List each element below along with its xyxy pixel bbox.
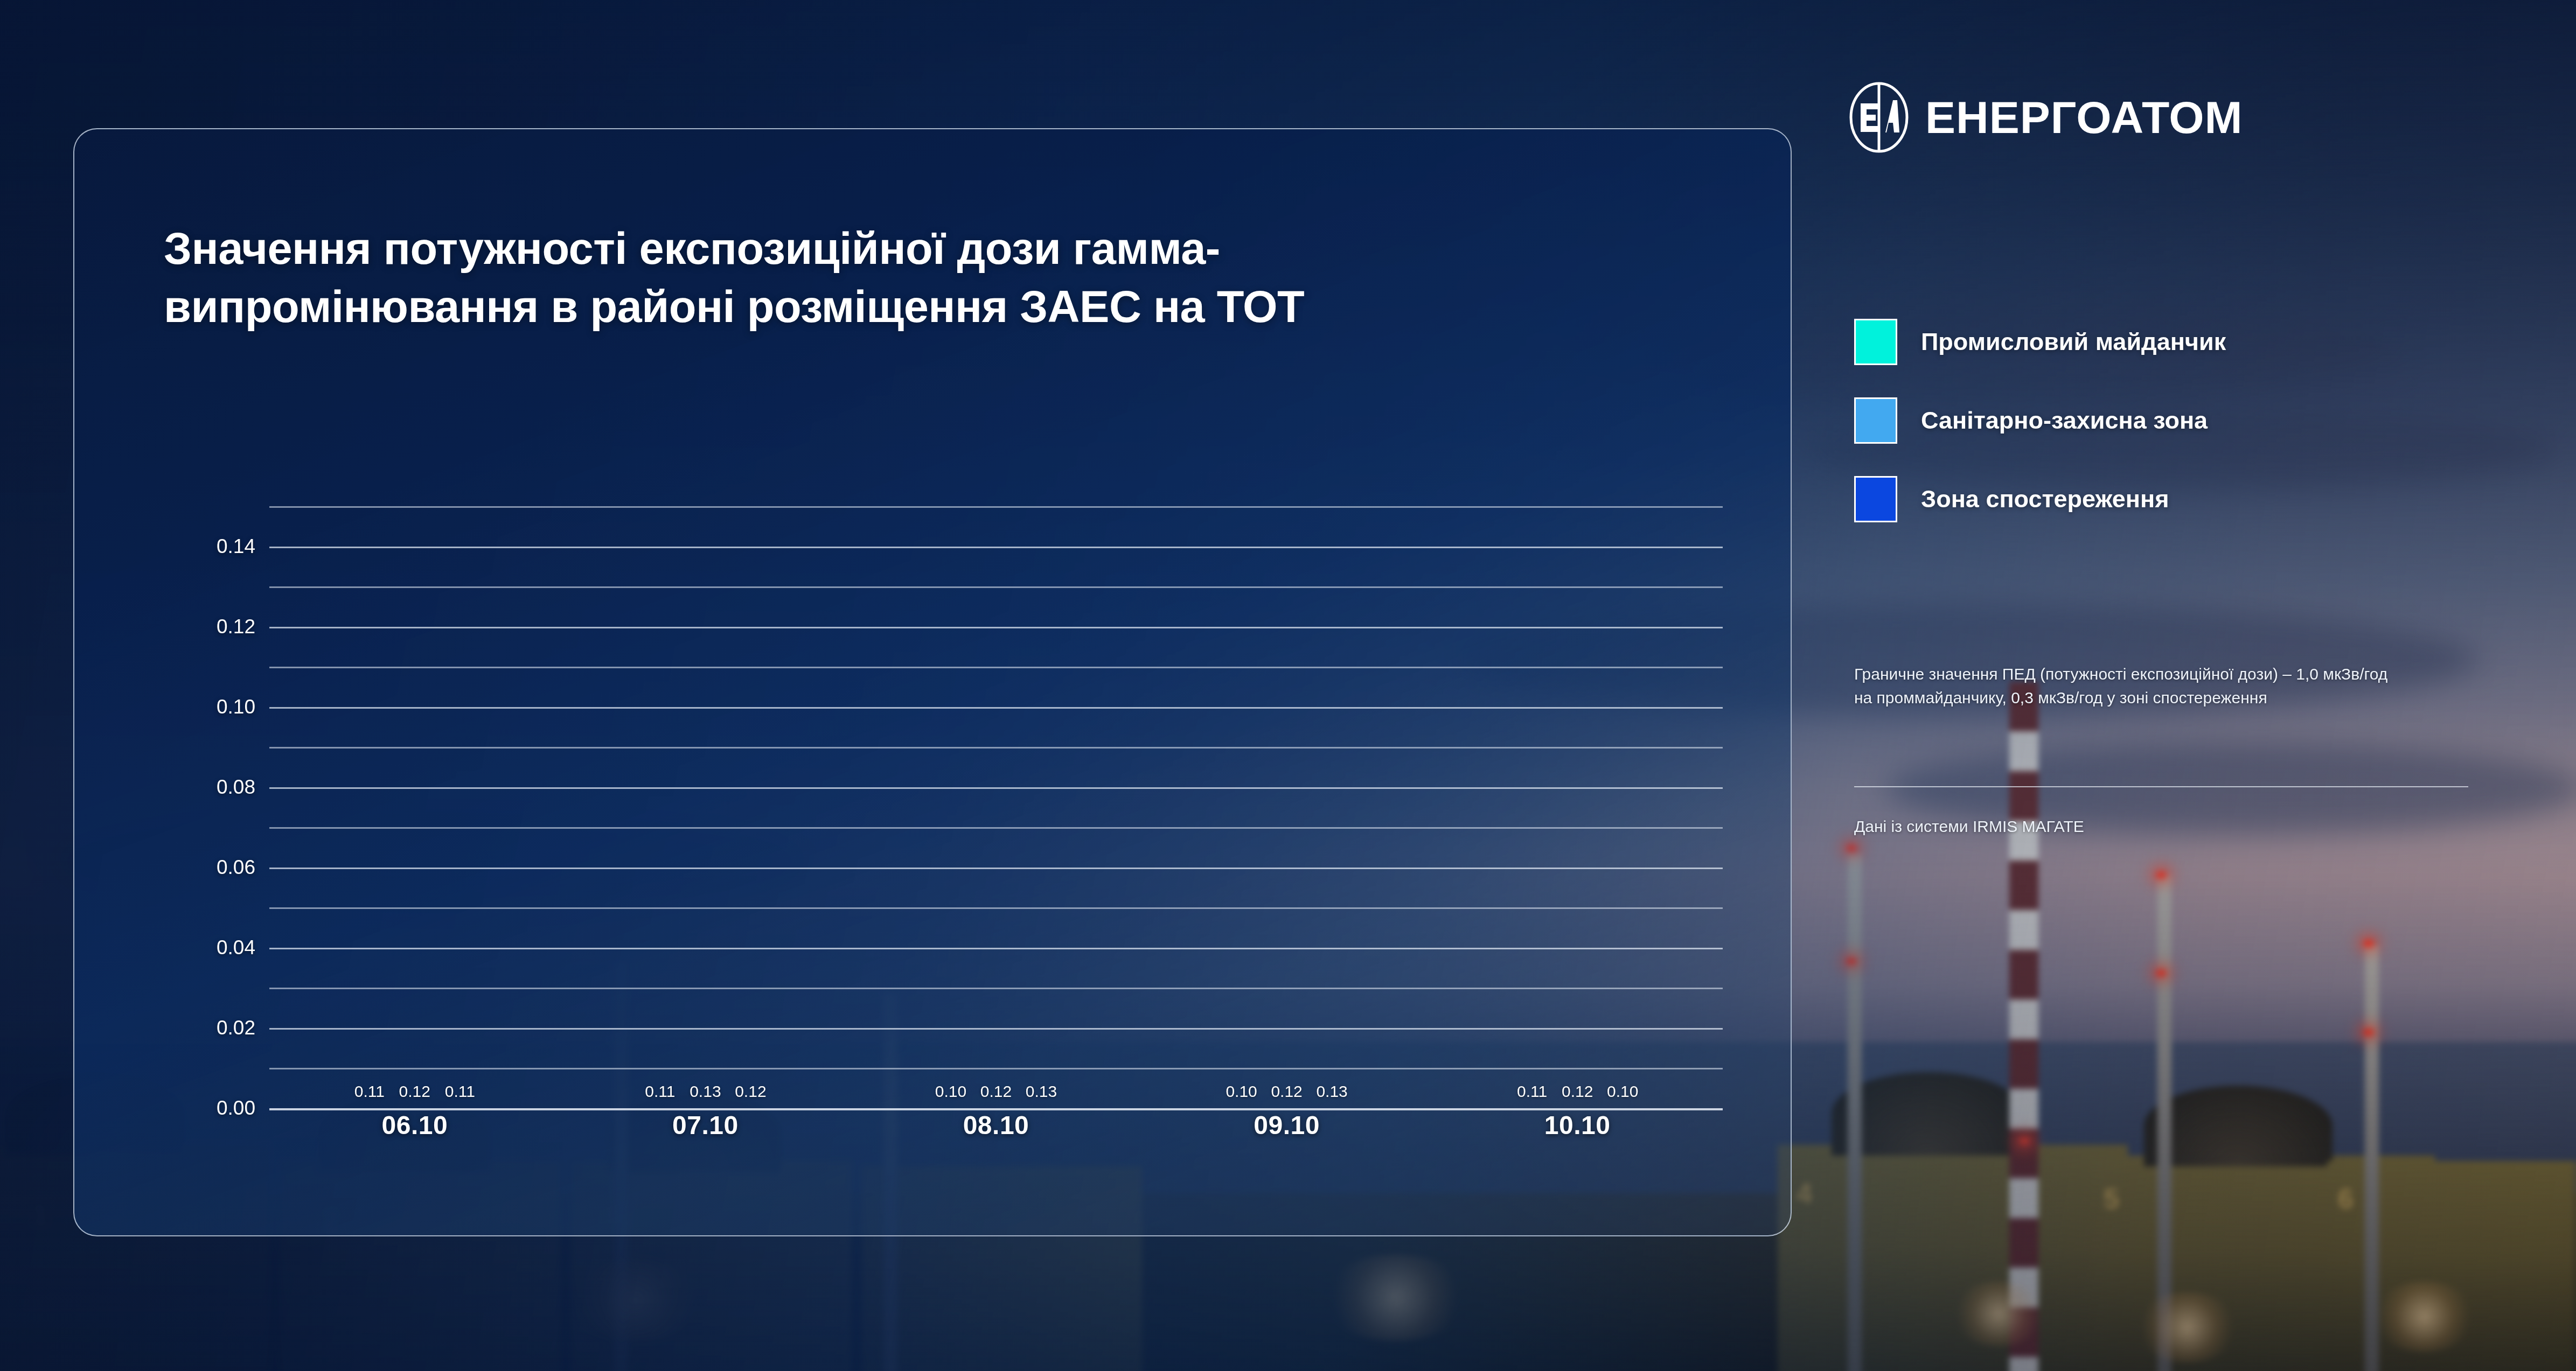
legend-item-label: Санітарно-захисна зона <box>1921 407 2208 435</box>
bar-value-label: 0.11 <box>350 1082 389 1101</box>
x-axis-tick-label: 07.10 <box>672 1110 739 1140</box>
legend-item[interactable]: Зона спостереження <box>1854 476 2226 522</box>
bar-value-label: 0.12 <box>731 1082 770 1101</box>
bar-chart: 0.110.120.110.110.130.120.100.120.130.10… <box>171 506 1723 1142</box>
bar-value-label: 0.10 <box>1222 1082 1261 1101</box>
bar-value-label: 0.11 <box>1513 1082 1551 1101</box>
bar-groups: 0.110.120.110.110.130.120.100.120.130.10… <box>269 506 1723 1108</box>
bar-value-label: 0.12 <box>395 1082 434 1101</box>
bar-value-label: 0.12 <box>977 1082 1015 1101</box>
limit-note: Граничне значення ПЕД (потужності експоз… <box>1854 662 2393 710</box>
y-axis-tick-label: 0.00 <box>217 1097 255 1120</box>
y-axis-tick-label: 0.10 <box>217 696 255 718</box>
bar-value-label: 0.12 <box>1268 1082 1306 1101</box>
x-axis-tick-label: 08.10 <box>963 1110 1029 1140</box>
right-rail: ЕНЕРГОАТОМ Промисловий майданчикСанітарн… <box>1848 0 2543 1371</box>
bar-value-label: 0.13 <box>1022 1082 1061 1101</box>
y-axis-tick-label: 0.14 <box>217 535 255 558</box>
infographic-stage: 1 2 3 4 5 6 Значенн <box>0 0 2576 1371</box>
bar-value-label: 0.10 <box>931 1082 970 1101</box>
divider <box>1854 786 2468 787</box>
x-axis-tick-label: 10.10 <box>1544 1110 1611 1140</box>
energoatom-ea-monogram-icon <box>1848 81 1910 154</box>
y-axis-tick-label: 0.12 <box>217 615 255 638</box>
legend-color-swatch <box>1854 476 1897 522</box>
y-axis-tick-label: 0.06 <box>217 856 255 879</box>
y-axis-tick-label: 0.08 <box>217 776 255 799</box>
y-axis-tick-label: 0.02 <box>217 1017 255 1039</box>
x-axis-tick-label: 06.10 <box>381 1110 448 1140</box>
x-axis-labels: 06.1007.1008.1009.1010.10 <box>269 1108 1723 1142</box>
legend-item-label: Промисловий майданчик <box>1921 328 2226 356</box>
bar-value-label: 0.13 <box>686 1082 725 1101</box>
bar-value-label: 0.13 <box>1313 1082 1352 1101</box>
chart-legend: Промисловий майданчикСанітарно-захисна з… <box>1854 319 2226 555</box>
bar-value-label: 0.11 <box>640 1082 679 1101</box>
bar-value-label: 0.11 <box>441 1082 479 1101</box>
legend-item[interactable]: Санітарно-захисна зона <box>1854 397 2226 444</box>
source-note: Дані із системи IRMIS МАГАТЕ <box>1854 817 2393 836</box>
bar-value-label: 0.10 <box>1603 1082 1642 1101</box>
legend-item[interactable]: Промисловий майданчик <box>1854 319 2226 365</box>
y-axis-tick-label: 0.04 <box>217 936 255 959</box>
chart-plot-area: 0.110.120.110.110.130.120.100.120.130.10… <box>269 506 1723 1108</box>
chart-card: Значення потужності експозиційної дози г… <box>73 128 1792 1236</box>
brand-name: ЕНЕРГОАТОМ <box>1925 92 2243 144</box>
legend-color-swatch <box>1854 319 1897 365</box>
legend-color-swatch <box>1854 397 1897 444</box>
x-axis-tick-label: 09.10 <box>1254 1110 1320 1140</box>
legend-item-label: Зона спостереження <box>1921 485 2169 513</box>
page-title: Значення потужності експозиційної дози г… <box>164 220 1510 336</box>
brand-logo[interactable]: ЕНЕРГОАТОМ <box>1848 81 2243 154</box>
bar-value-label: 0.12 <box>1558 1082 1597 1101</box>
